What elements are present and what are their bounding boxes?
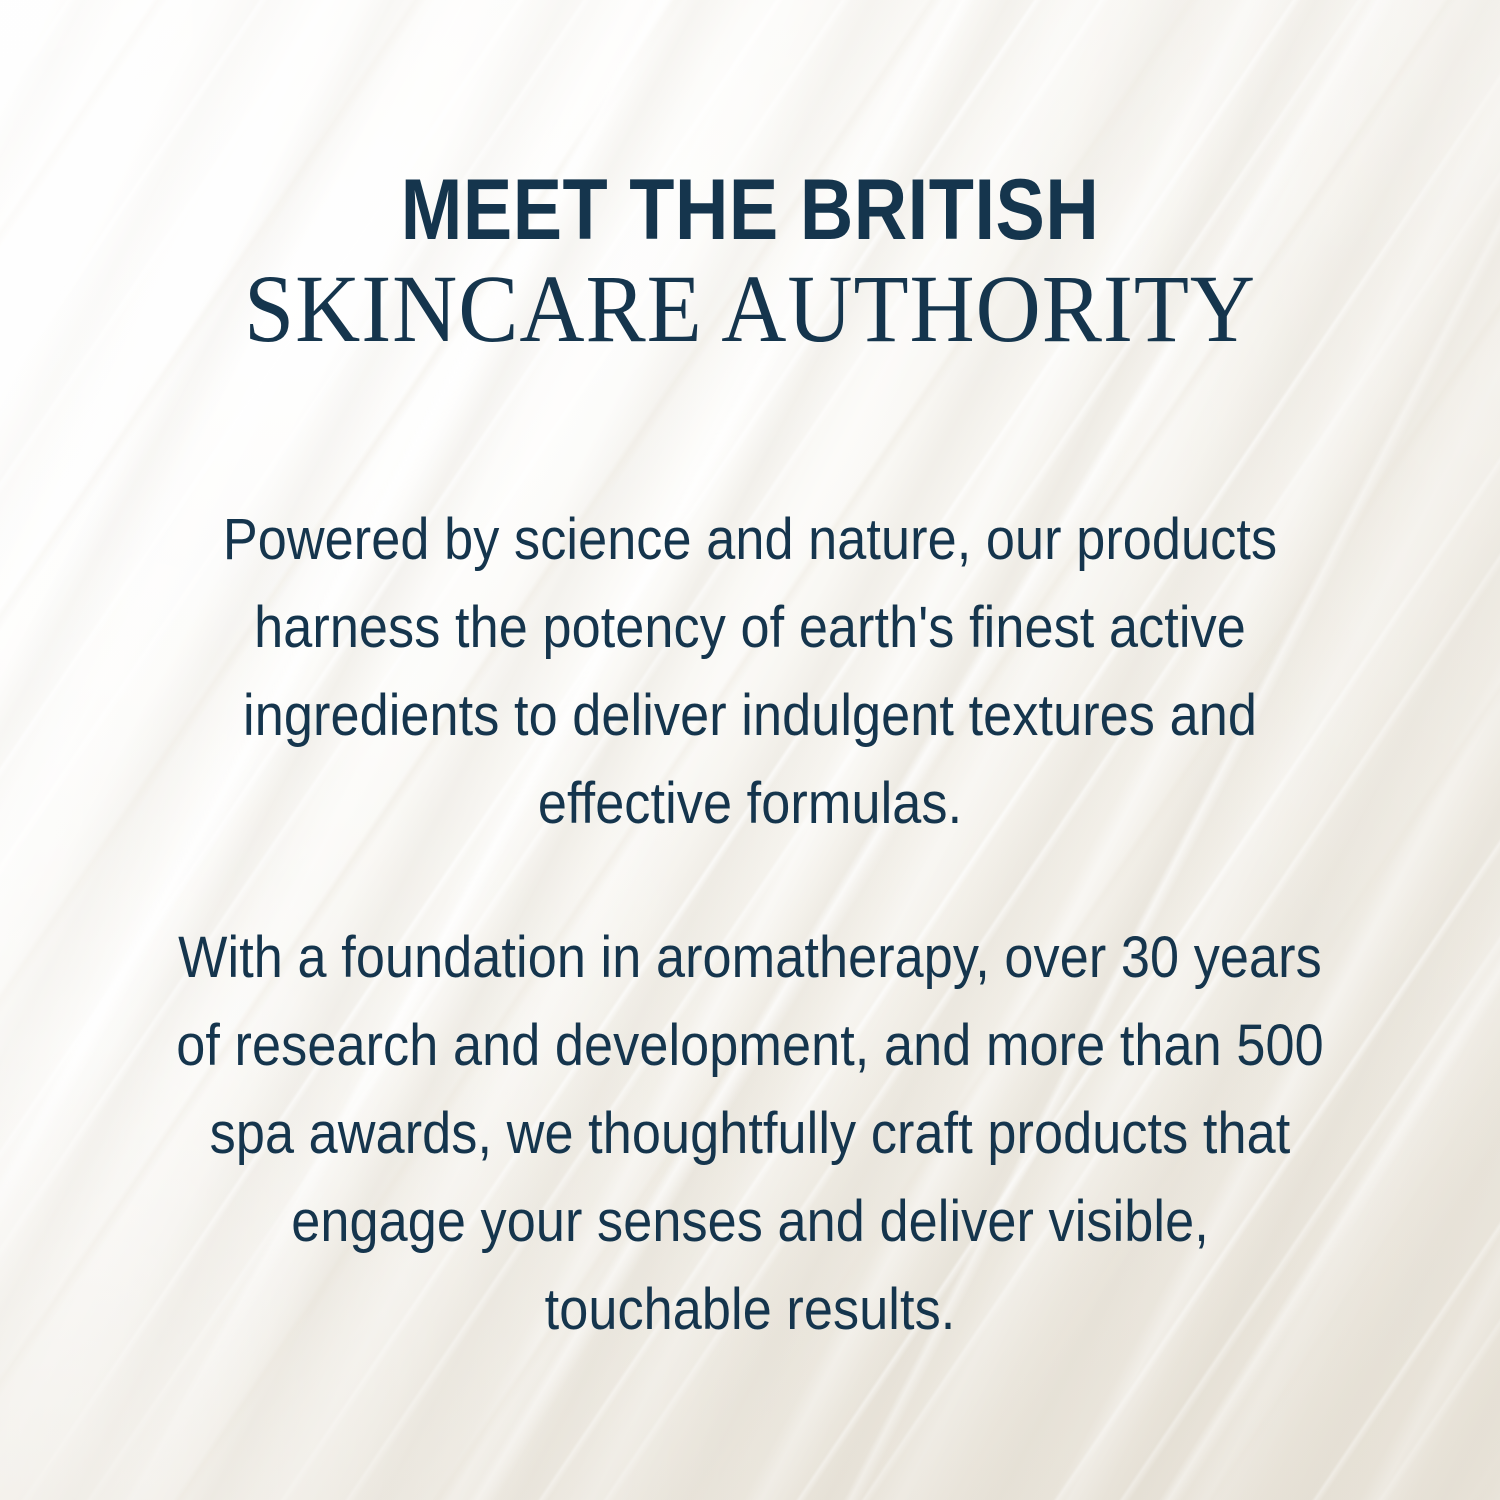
content-container: MEET THE BRITISH SKINCARE AUTHORITY Powe… (0, 0, 1500, 1500)
headline-line-2: SKINCARE AUTHORITY (45, 258, 1455, 360)
headline-line-1: MEET THE BRITISH (105, 168, 1395, 252)
headline: MEET THE BRITISH SKINCARE AUTHORITY (0, 168, 1500, 360)
marketing-graphic: MEET THE BRITISH SKINCARE AUTHORITY Powe… (0, 0, 1500, 1500)
body-paragraph-1: Powered by science and nature, our produ… (174, 496, 1326, 848)
body-copy: Powered by science and nature, our produ… (110, 438, 1390, 1412)
body-paragraph-2: With a foundation in aromatherapy, over … (174, 914, 1326, 1354)
